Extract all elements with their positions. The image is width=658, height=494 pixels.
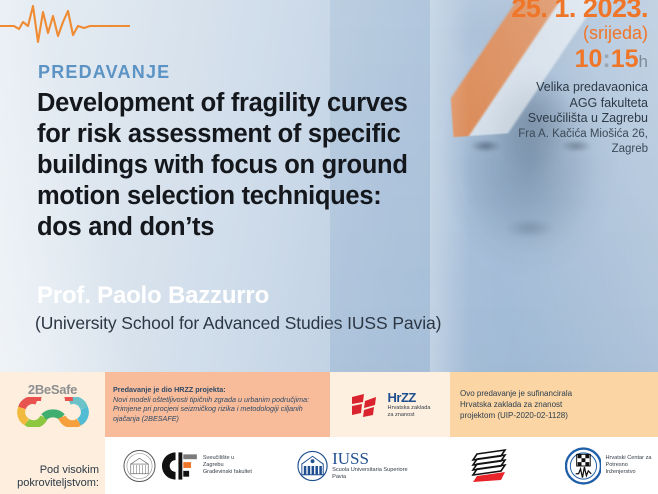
- hcpi-caption-2: Potresno Inženjerstvo: [605, 462, 658, 476]
- patronage-logos-cell: Sveučilište u Zagrebu Građevinski fakult…: [105, 437, 658, 494]
- speaker-name: Prof. Paolo Bazzurro: [37, 282, 269, 310]
- hrzz-acronym: HrZZ: [388, 390, 431, 405]
- event-date: 25. 1. 2023.: [398, 0, 648, 22]
- event-time-hours: 10: [575, 45, 603, 73]
- venue-address-line-1: Fra A. Kačića Miošića 26,: [398, 127, 648, 143]
- patronage-label-line-1: Pod visokim: [17, 464, 99, 477]
- gradjevinski-logo: [467, 448, 513, 484]
- lecture-poster: PREDAVANJE Development of fragility curv…: [0, 0, 658, 494]
- layered-plates-icon: [467, 448, 513, 484]
- project-heading: Predavanje je dio HRZZ projekta:: [113, 385, 322, 395]
- venue-address-line-2: Zagreb: [398, 142, 648, 158]
- project-body: Novi modeli oštetljivosti tipičnih zgrad…: [113, 395, 322, 424]
- venue-line-1: Velika predavaonica: [398, 80, 648, 96]
- hrzz-mark-icon: [350, 392, 384, 418]
- uniz-logo: Sveučilište u Zagrebu Građevinski fakult…: [123, 449, 255, 483]
- hrzz-logo-cell: HrZZ Hrvatska zaklada za znanost: [330, 372, 450, 437]
- besafe-wordmark: 2BeSafe: [16, 382, 90, 397]
- project-description-cell: Predavanje je dio HRZZ projekta: Novi mo…: [105, 372, 330, 437]
- title-line-5: dos and don’ts: [37, 212, 477, 243]
- uniz-seal-icon: [123, 449, 156, 483]
- title-line-4: motion selection techniques:: [37, 181, 477, 212]
- event-time-separator: :: [602, 45, 610, 73]
- page-kicker: PREDAVANJE: [38, 62, 170, 83]
- besafe-logo-cell: 2BeSafe: [0, 372, 105, 437]
- besafe-logo: 2BeSafe: [16, 382, 90, 427]
- event-time-unit: h: [639, 52, 648, 71]
- hcpi-seal-icon: [565, 447, 602, 485]
- hcpi-caption-1: Hrvatski Centar za: [605, 455, 658, 462]
- funding-line-1: Ovo predavanje je sufinancirala: [460, 388, 572, 399]
- patronage-band: Pod visokim pokroviteljstvom:: [0, 437, 658, 494]
- funding-text-cell: Ovo predavanje je sufinancirala Hrvatska…: [450, 372, 658, 437]
- besafe-infinity-icon: [16, 397, 90, 427]
- venue-line-3: Sveučilišta u Zagrebu: [398, 111, 648, 127]
- funding-line-3: projektom (UIP-2020-02-1128): [460, 410, 572, 421]
- patronage-logo-row: Sveučilište u Zagrebu Građevinski fakult…: [105, 447, 658, 485]
- besafe-word-part-1: 2Be: [28, 382, 51, 397]
- iuss-crest-icon: [297, 449, 328, 483]
- besafe-word-part-2: Safe: [51, 382, 77, 397]
- iuss-caption-1: Scuola Universitaria Superiore Pavia: [332, 467, 420, 481]
- funding-line-2: Hrvatska zaklada za znanost: [460, 399, 572, 410]
- patronage-label-cell: Pod visokim pokroviteljstvom:: [0, 437, 105, 494]
- hrzz-caption-2: za znanost: [388, 412, 431, 419]
- hrzz-logo: HrZZ Hrvatska zaklada za znanost: [350, 390, 431, 419]
- seismograph-icon: [0, 2, 130, 46]
- event-venue: Velika predavaonica AGG fakulteta Sveuči…: [398, 80, 648, 158]
- venue-line-2: AGG fakulteta: [398, 96, 648, 112]
- patronage-label: Pod visokim pokroviteljstvom:: [17, 464, 99, 490]
- patronage-label-line-2: pokroviteljstvom:: [17, 477, 99, 490]
- event-time-minutes: 15: [611, 45, 639, 73]
- iuss-logo: IUSS Scuola Universitaria Superiore Pavi…: [297, 449, 421, 483]
- project-funding-band: 2BeSafe Predavanje je d: [0, 372, 658, 437]
- uniz-gf-mark-icon: [160, 449, 199, 483]
- uniz-caption-2: Građevinski fakultet: [203, 469, 255, 476]
- speaker-affiliation: (University School for Advanced Studies …: [35, 313, 441, 334]
- event-info-column: 25. 1. 2023. (srijeda) 10:15h Velika pre…: [398, 0, 648, 158]
- event-day-of-week: (srijeda): [398, 22, 648, 44]
- event-time: 10:15h: [398, 46, 648, 75]
- iuss-acronym: IUSS: [332, 450, 420, 467]
- hrzz-caption-1: Hrvatska zaklada: [388, 405, 431, 412]
- funding-text: Ovo predavanje je sufinancirala Hrvatska…: [460, 388, 572, 421]
- uniz-caption-1: Sveučilište u Zagrebu: [203, 455, 255, 469]
- hcpi-logo: Hrvatski Centar za Potresno Inženjerstvo: [565, 447, 658, 485]
